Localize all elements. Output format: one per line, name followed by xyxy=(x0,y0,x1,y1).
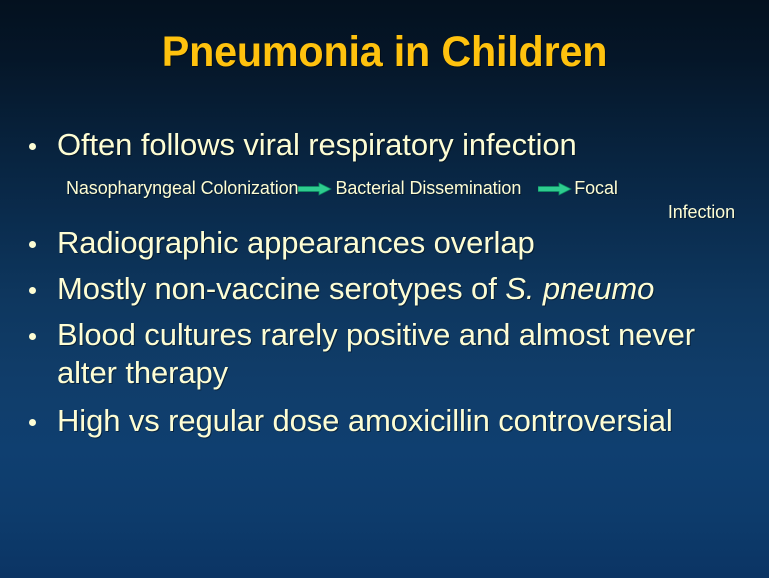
list-item-label: Radiographic appearances overlap xyxy=(57,225,535,260)
list-item: Radiographic appearances overlap xyxy=(0,224,769,262)
cascade-line: Nasopharyngeal Colonization Bacterial Di… xyxy=(66,176,746,201)
bullet-dot-icon xyxy=(29,333,36,340)
list-item-label: Mostly non-vaccine serotypes of xyxy=(57,271,505,306)
list-item-label-italic: S. pneumo xyxy=(505,271,654,306)
cascade-step-dissemination: Bacterial Dissemination xyxy=(335,176,521,201)
bullet-dot-icon xyxy=(29,419,36,426)
list-item: Mostly non-vaccine serotypes of S. pneum… xyxy=(0,270,769,308)
page-title: Pneumonia in Children xyxy=(15,27,753,77)
pathogenesis-cascade-diagram: Nasopharyngeal Colonization Bacterial Di… xyxy=(66,176,746,225)
bullet-list: Often follows viral respiratory infectio… xyxy=(0,126,769,440)
spacer xyxy=(0,308,769,316)
spacer xyxy=(0,392,769,402)
list-item: High vs regular dose amoxicillin controv… xyxy=(0,402,769,440)
list-item-label: Often follows viral respiratory infectio… xyxy=(57,127,577,162)
bullet-dot-icon xyxy=(29,287,36,294)
right-arrow-icon xyxy=(538,182,572,196)
presentation-slide: Pneumonia in Children Often follows vira… xyxy=(0,0,769,578)
bullet-dot-icon xyxy=(29,241,36,248)
cascade-step-focal: Focal xyxy=(574,176,618,201)
list-item-label: Blood cultures rarely positive and almos… xyxy=(57,317,695,390)
bullet-dot-icon xyxy=(29,143,36,150)
right-arrow-icon xyxy=(298,182,332,196)
spacer xyxy=(0,262,769,270)
list-item: Blood cultures rarely positive and almos… xyxy=(0,316,769,392)
cascade-step-colonization: Nasopharyngeal Colonization xyxy=(66,176,298,201)
list-item-label: High vs regular dose amoxicillin controv… xyxy=(57,403,673,438)
list-item: Often follows viral respiratory infectio… xyxy=(0,126,769,164)
cascade-step-focal-wrap: Infection xyxy=(66,200,735,225)
